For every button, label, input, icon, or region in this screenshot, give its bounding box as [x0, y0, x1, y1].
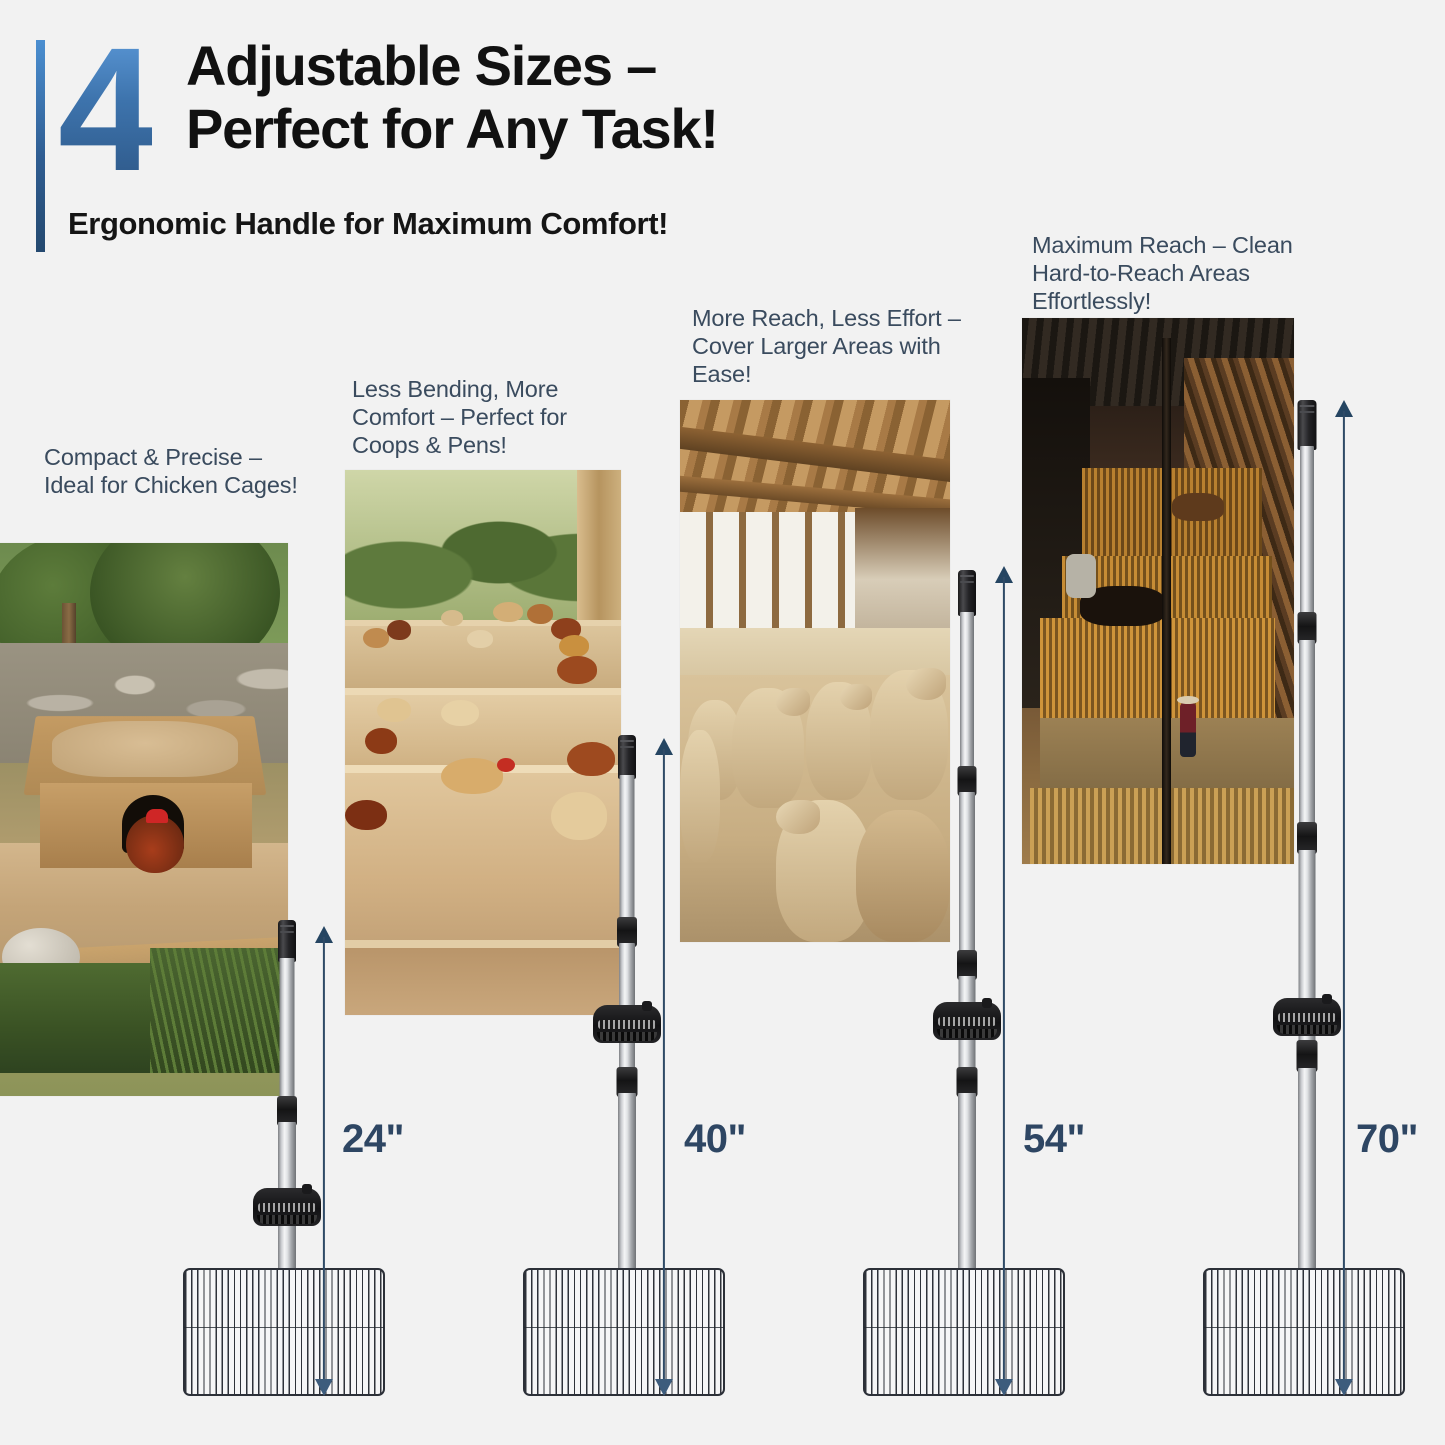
rake-head-70: [1203, 1268, 1405, 1396]
pole-upper: [620, 775, 635, 927]
ergonomic-handle-grip: [253, 1188, 321, 1226]
measure-arrow-40: [653, 738, 675, 1396]
measure-arrow-70: [1333, 400, 1355, 1396]
pole-upper: [280, 958, 295, 1108]
pole-top-grip: [958, 570, 976, 616]
rake-head-24: [183, 1268, 385, 1396]
pole-upper: [1300, 446, 1314, 621]
arrow-head-down-icon: [315, 1379, 333, 1396]
arrow-head-down-icon: [995, 1379, 1013, 1396]
pole-top-grip: [278, 920, 296, 962]
ergonomic-handle-grip: [1273, 998, 1341, 1036]
arrow-shaft: [1003, 577, 1005, 1385]
measure-arrow-24: [313, 926, 335, 1396]
measure-label-70: 70": [1356, 1117, 1418, 1162]
arrow-head-down-icon: [655, 1379, 673, 1396]
arrow-shaft: [323, 937, 325, 1385]
arrow-shaft: [1343, 411, 1345, 1385]
headline-line-1: Adjustable Sizes –: [186, 34, 656, 97]
pole-middle: [959, 792, 975, 960]
ergonomic-handle-grip: [593, 1005, 661, 1043]
arrow-head-down-icon: [1335, 1379, 1353, 1396]
pole-top-grip: [1298, 400, 1317, 450]
ergonomic-handle-grip: [933, 1002, 1001, 1040]
measure-arrow-54: [993, 566, 1015, 1396]
caption-size-54: More Reach, Less Effort – Cover Larger A…: [692, 304, 964, 389]
pole-upper: [960, 612, 974, 774]
grip-knob: [982, 998, 992, 1008]
grip-knob: [302, 1184, 312, 1194]
accent-bar: [36, 40, 45, 252]
headline-line-2: Perfect for Any Task!: [186, 97, 886, 160]
rake-head-40: [523, 1268, 725, 1396]
rake-head-54: [863, 1268, 1065, 1396]
subheadline: Ergonomic Handle for Maximum Comfort!: [68, 206, 668, 242]
caption-size-24: Compact & Precise – Ideal for Chicken Ca…: [44, 443, 316, 499]
measure-label-24: 24": [342, 1117, 404, 1162]
pole-middle: [1299, 640, 1315, 832]
page-title: Adjustable Sizes – Perfect for Any Task!: [186, 34, 886, 161]
photo-goats-in-barn: [680, 400, 950, 942]
arrow-shaft: [663, 749, 665, 1385]
measure-label-40: 40": [684, 1117, 746, 1162]
measure-label-54: 54": [1023, 1117, 1085, 1162]
infographic-canvas: 4 Adjustable Sizes – Perfect for Any Tas…: [0, 0, 1445, 1445]
header-block: 4 Adjustable Sizes – Perfect for Any Tas…: [0, 0, 900, 265]
caption-size-70: Maximum Reach – Clean Hard-to-Reach Area…: [1032, 231, 1310, 316]
pole-top-grip: [618, 735, 636, 779]
headline-number: 4: [58, 22, 152, 198]
grip-knob: [1322, 994, 1332, 1004]
caption-size-40: Less Bending, More Comfort – Perfect for…: [352, 375, 628, 460]
grip-knob: [642, 1001, 652, 1011]
